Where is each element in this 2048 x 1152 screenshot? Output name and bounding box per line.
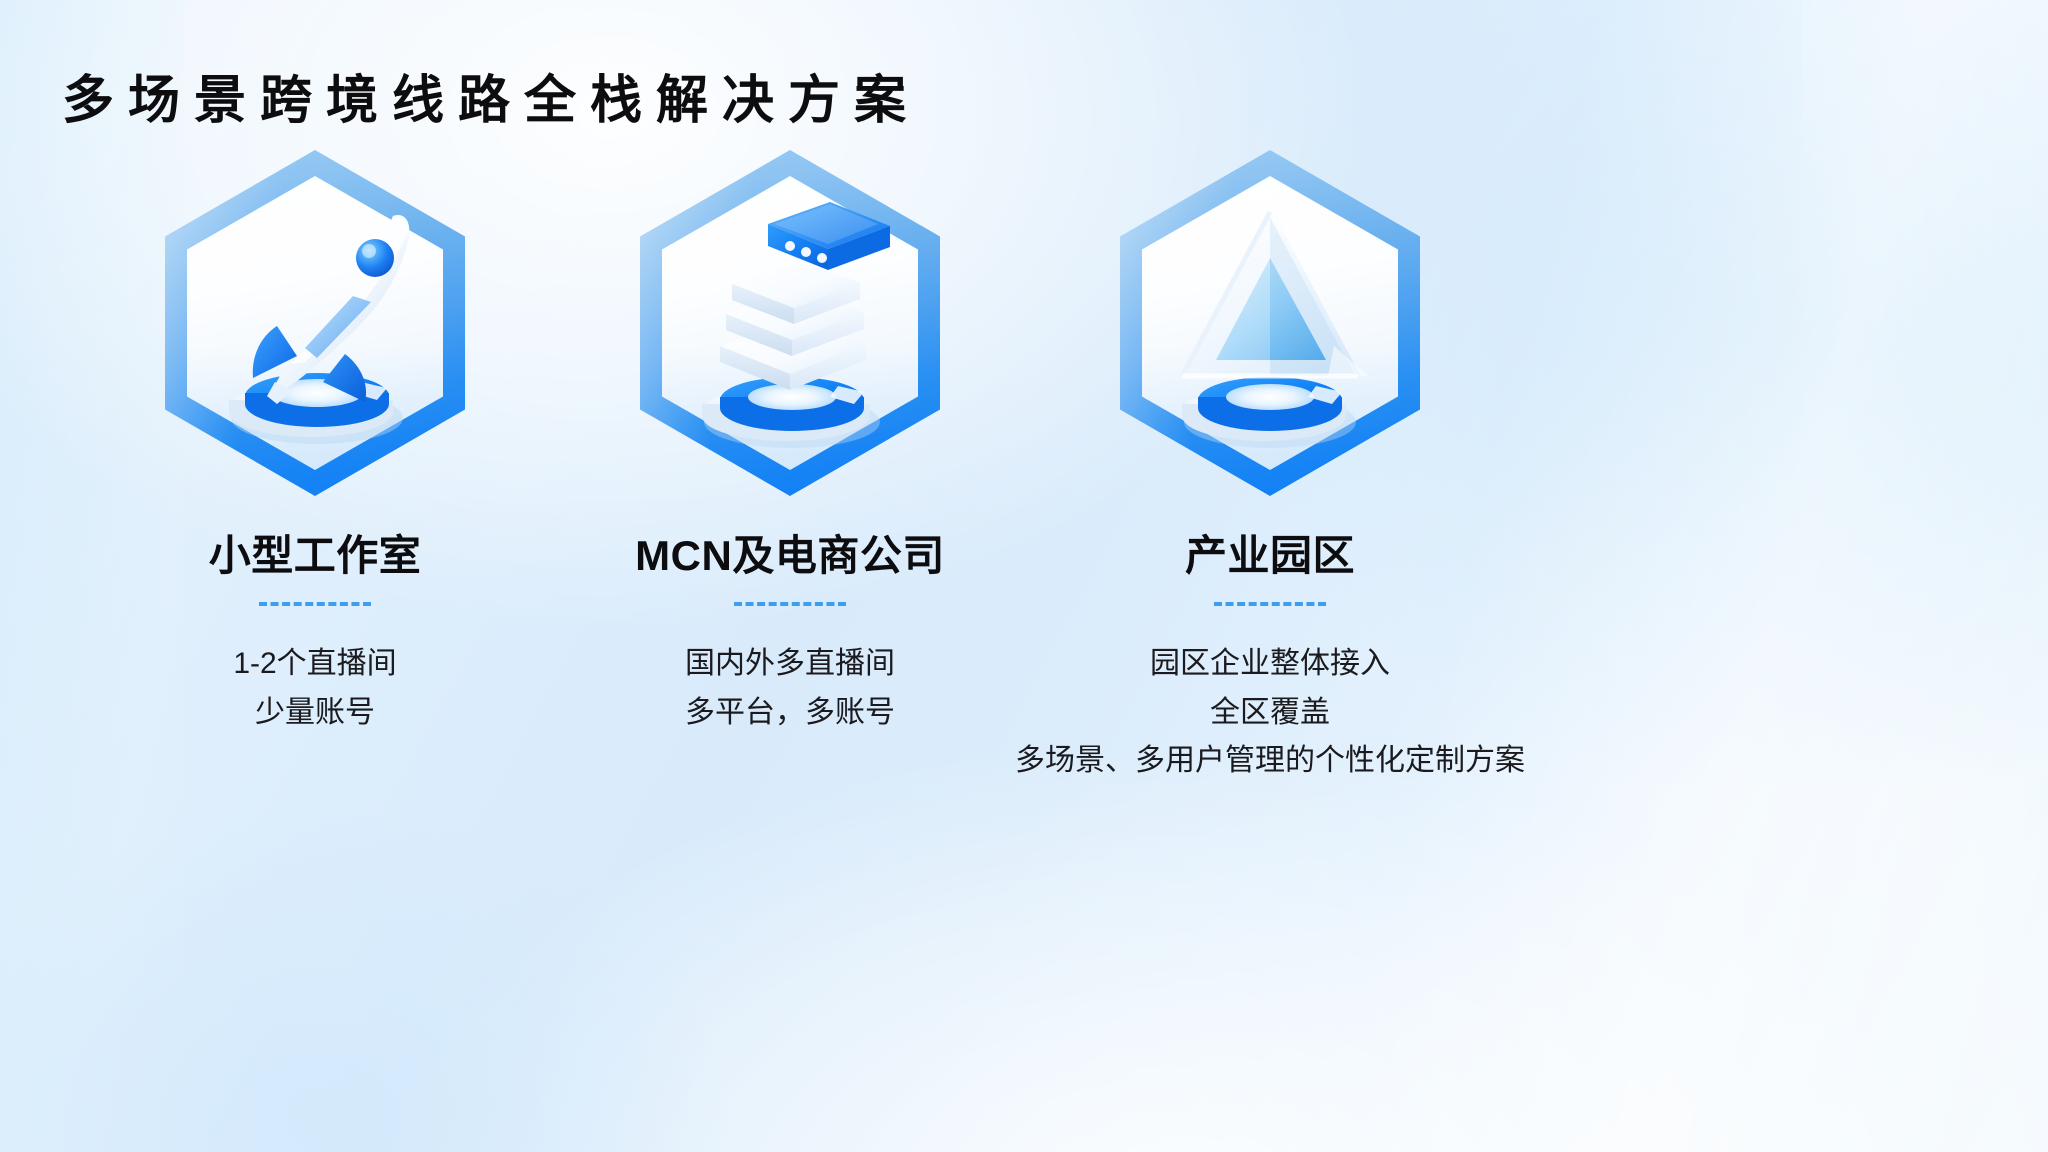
card-title: MCN及电商公司 [510, 532, 1070, 580]
card-divider [1214, 602, 1326, 606]
scenario-card-list: 小型工作室 1-2个直播间 少量账号 [0, 0, 2048, 1152]
rocket-hexagon-icon [165, 150, 465, 496]
page-title: 多场景跨境线路全栈解决方案 [62, 58, 920, 133]
card-description-line: 多平台，多账号 [510, 689, 1070, 738]
card-description: 园区企业整体接入 全区覆盖 多场景、多用户管理的个性化定制方案 [990, 640, 1550, 786]
card-description-line: 园区企业整体接入 [990, 640, 1550, 689]
card-divider [259, 602, 371, 606]
scenario-card[interactable]: 产业园区 园区企业整体接入 全区覆盖 多场景、多用户管理的个性化定制方案 [990, 150, 1550, 786]
card-description-line: 国内外多直播间 [510, 640, 1070, 689]
card-description-line: 全区覆盖 [990, 689, 1550, 738]
card-title: 产业园区 [990, 532, 1550, 580]
server-stack-illustration [640, 150, 940, 496]
card-description: 国内外多直播间 多平台，多账号 [510, 640, 1070, 737]
pyramid-hexagon-icon [1120, 150, 1420, 496]
scenario-card[interactable]: MCN及电商公司 国内外多直播间 多平台，多账号 [510, 150, 1070, 737]
card-description-line: 多场景、多用户管理的个性化定制方案 [990, 737, 1550, 786]
server-stack-hexagon-icon [640, 150, 940, 496]
pyramid-illustration [1120, 150, 1420, 496]
rocket-illustration [165, 150, 465, 496]
card-divider [734, 602, 846, 606]
